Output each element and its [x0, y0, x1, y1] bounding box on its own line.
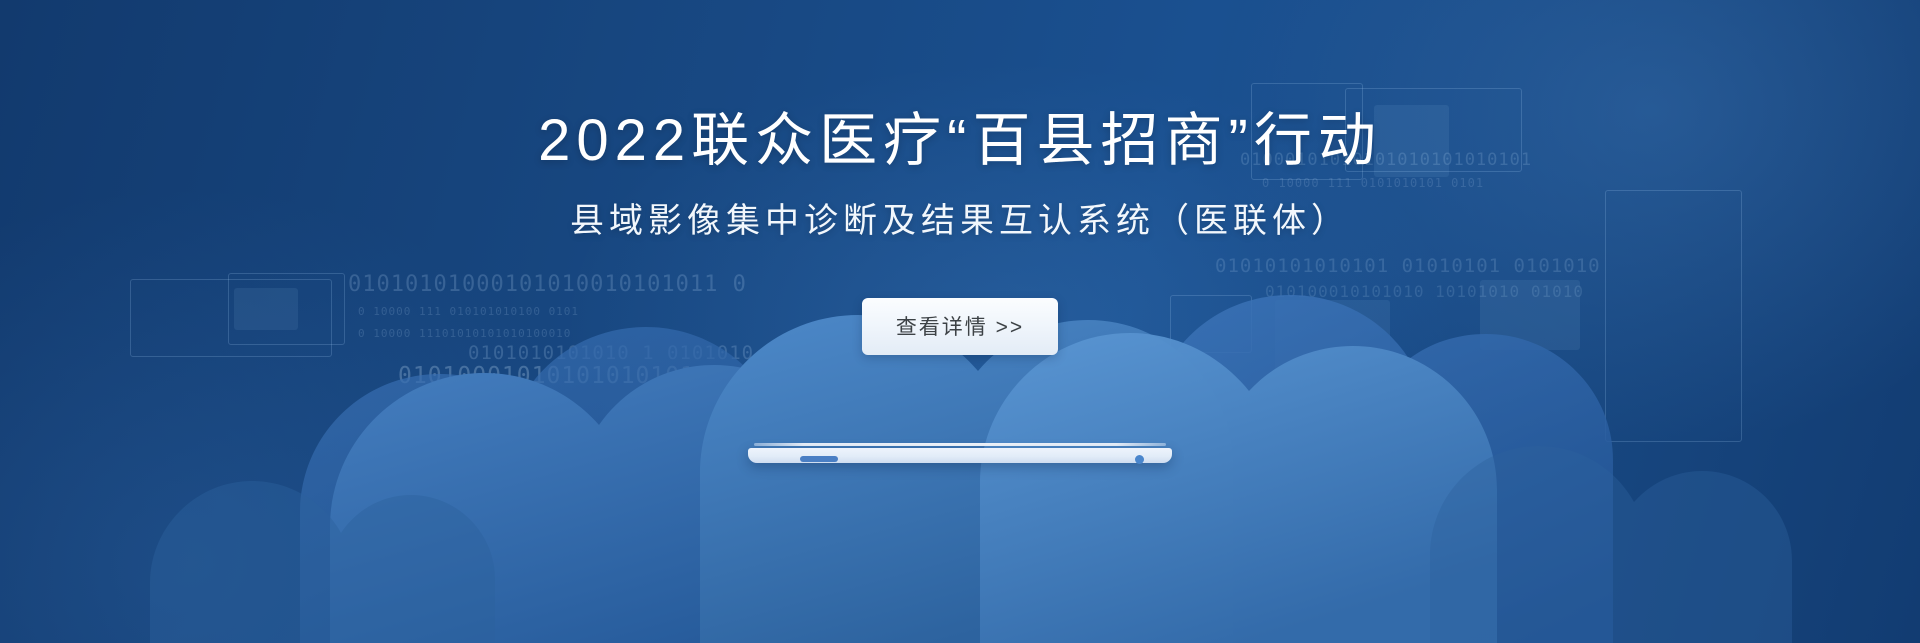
promo-banner: 01010101000101010010101011 0 0 10000 111…	[0, 0, 1920, 643]
banner-content: 2022联众医疗“百县招商”行动 县域影像集中诊断及结果互认系统（医联体） 查看…	[0, 0, 1920, 643]
page-subtitle: 县域影像集中诊断及结果互认系统（医联体）	[0, 170, 1920, 238]
laptop-screen-edge	[754, 443, 1166, 446]
laptop-base-icon	[748, 443, 1172, 469]
page-title: 2022联众医疗“百县招商”行动	[0, 0, 1920, 170]
laptop-base-body	[748, 448, 1172, 463]
laptop-indicator-dot-icon	[1135, 455, 1144, 464]
laptop-speaker-icon	[800, 456, 838, 462]
cta-container: 查看详情 >>	[0, 298, 1920, 355]
view-details-button[interactable]: 查看详情 >>	[862, 298, 1058, 355]
